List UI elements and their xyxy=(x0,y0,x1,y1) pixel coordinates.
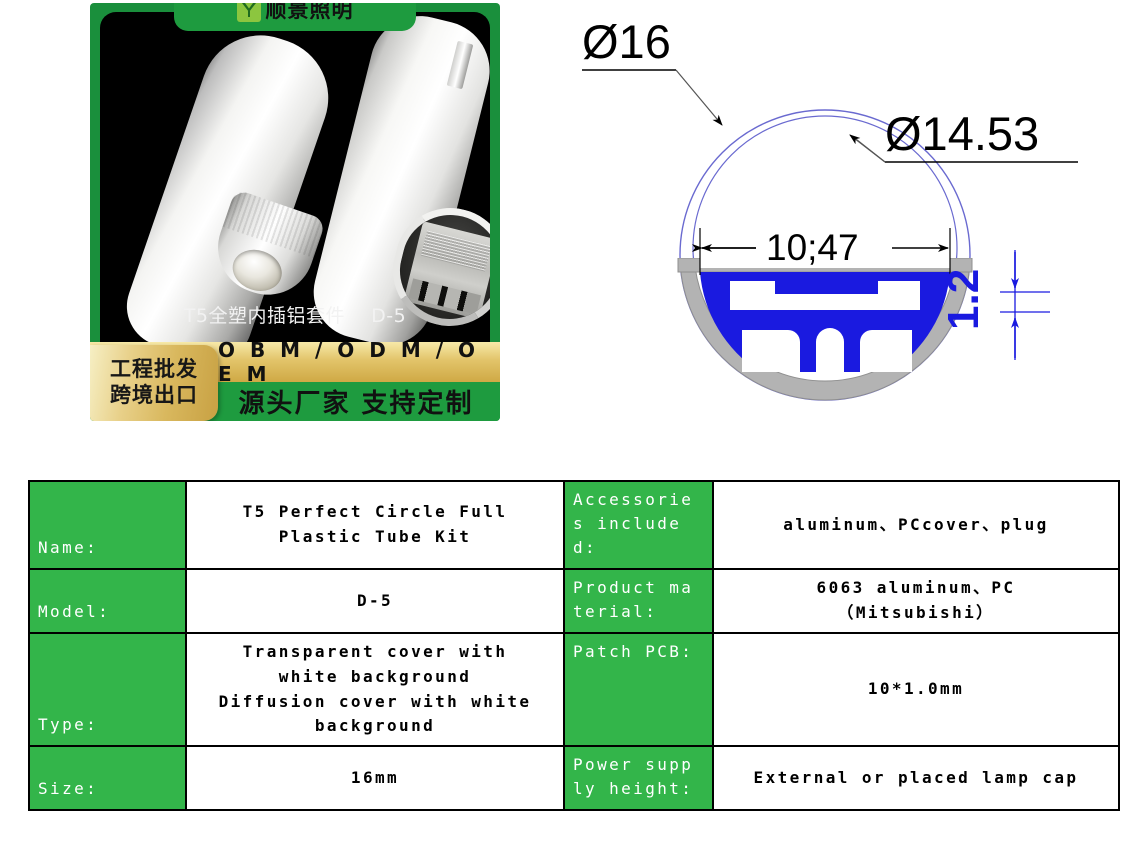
dimension-outer-diameter: Ø16 xyxy=(582,15,722,125)
row-value-type: Transparent cover with white background … xyxy=(186,633,564,746)
banner-ribbon: 工程批发 跨境出口 xyxy=(90,345,218,421)
technical-drawing: Ø16 Ø14.53 10;47 xyxy=(560,0,1145,430)
row-value-patch-pcb: 10*1.0mm xyxy=(713,633,1119,746)
row-value-power-supply-height: External or placed lamp cap xyxy=(713,746,1119,810)
row-label-type: Type: xyxy=(29,633,186,746)
table-row: Type: Transparent cover with white backg… xyxy=(29,633,1119,746)
row-label-accessories: Accessories included: xyxy=(564,481,713,569)
table-row: Size: 16mm Power supply height: External… xyxy=(29,746,1119,810)
label-d1453: Ø14.53 xyxy=(885,107,1039,160)
row-label-size: Size: xyxy=(29,746,186,810)
row-value-accessories: aluminum、PCcover、plug xyxy=(713,481,1119,569)
brand-logo-bar: 顺景照明 xyxy=(174,3,416,31)
ribbon-line-2: 跨境出口 xyxy=(110,384,198,408)
table-row: Model: D-5 Product material: 6063 alumin… xyxy=(29,569,1119,633)
row-value-name: T5 Perfect Circle Full Plastic Tube Kit xyxy=(186,481,564,569)
page-root: T5全塑内插铝套件 D-5 顺景照明 O B M / O D M / O E M… xyxy=(0,0,1145,852)
product-tube-left xyxy=(116,19,344,342)
row-label-patch-pcb: Patch PCB: xyxy=(564,633,713,746)
table-row: Name: T5 Perfect Circle Full Plastic Tub… xyxy=(29,481,1119,569)
ribbon-line-1: 工程批发 xyxy=(110,358,198,382)
row-label-power-supply-height: Power supply height: xyxy=(564,746,713,810)
row-label-model: Model: xyxy=(29,569,186,633)
label-d16: Ø16 xyxy=(582,15,671,68)
brand-name: 顺景照明 xyxy=(266,3,354,21)
label-inner-width: 10;47 xyxy=(766,227,859,268)
row-label-product-material: Product material: xyxy=(564,569,713,633)
y-logo-icon xyxy=(237,3,261,22)
row-value-model: D-5 xyxy=(186,569,564,633)
row-label-name: Name: xyxy=(29,481,186,569)
dimension-inner-diameter: Ø14.53 xyxy=(850,107,1078,162)
product-photo-image: T5全塑内插铝套件 D-5 xyxy=(100,12,490,342)
row-value-product-material: 6063 aluminum、PC （Mitsubishi） xyxy=(713,569,1119,633)
specification-table: Name: T5 Perfect Circle Full Plastic Tub… xyxy=(28,480,1120,811)
photo-caption: T5全塑内插铝套件 D-5 xyxy=(100,301,490,328)
row-value-size: 16mm xyxy=(186,746,564,810)
label-wall-thickness: 1.2 xyxy=(939,269,988,330)
promo-banner: O B M / O D M / O E M 源头厂家 支持定制 工程批发 跨境出… xyxy=(90,342,500,421)
product-photo-card: T5全塑内插铝套件 D-5 顺景照明 O B M / O D M / O E M… xyxy=(90,3,500,421)
banner-slogan: 源头厂家 支持定制 xyxy=(212,382,500,421)
banner-obm-text: O B M / O D M / O E M xyxy=(218,342,500,382)
